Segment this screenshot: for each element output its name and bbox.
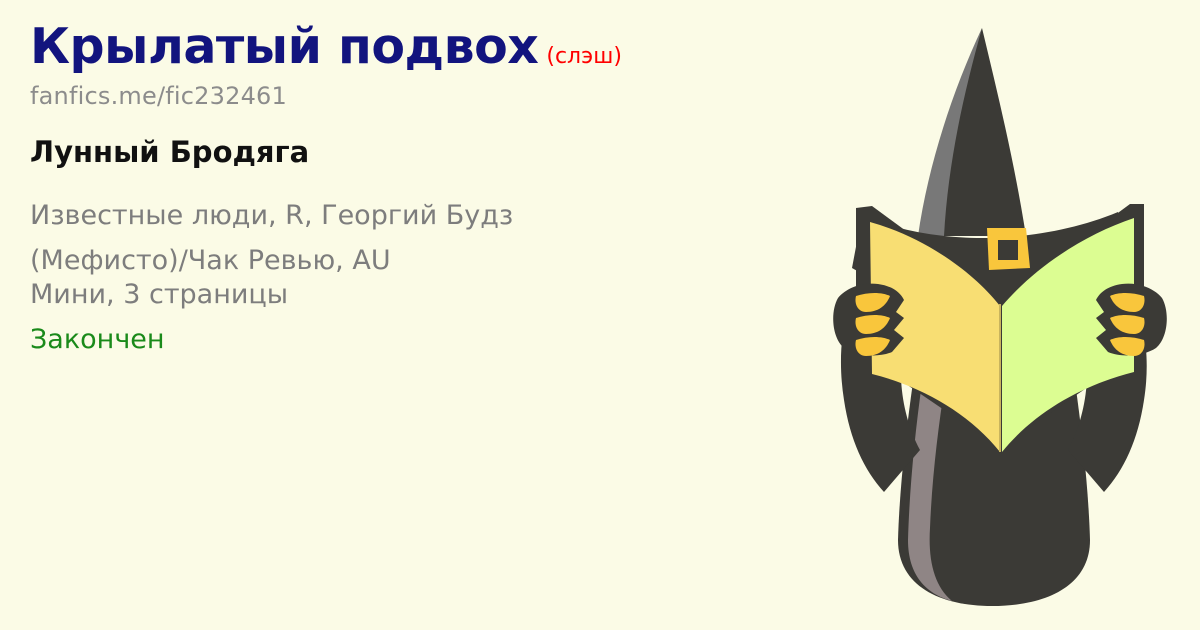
metadata-line-pairing: (Мефисто)/Чак Ревью, AU (30, 244, 770, 279)
witch-reading-book-illustration (800, 0, 1200, 630)
page-title: Крылатый подвох(слэш) (30, 22, 790, 71)
source-url[interactable]: fanfics.me/fic232461 (30, 83, 790, 109)
metadata-block: Известные люди, R, Георгий Будз (Мефисто… (30, 199, 790, 357)
status-badge: Закончен (30, 323, 790, 358)
hat-buckle-icon (987, 228, 1030, 270)
author-name[interactable]: Лунный Бродяга (30, 137, 790, 169)
page-title-tag: (слэш) (546, 44, 622, 69)
metadata-line-size: Мини, 3 страницы (30, 278, 770, 313)
witch-right-hand (1096, 284, 1167, 356)
fanfic-preview-card: Крылатый подвох(слэш) fanfics.me/fic2324… (0, 0, 1200, 630)
witch-hat-icon (918, 28, 1026, 236)
metadata-line-fandom: Известные люди, R, Георгий Будз (30, 199, 770, 234)
page-title-text: Крылатый подвох (30, 18, 538, 75)
text-column: Крылатый подвох(слэш) fanfics.me/fic2324… (30, 22, 790, 357)
witch-left-hand (833, 284, 904, 356)
